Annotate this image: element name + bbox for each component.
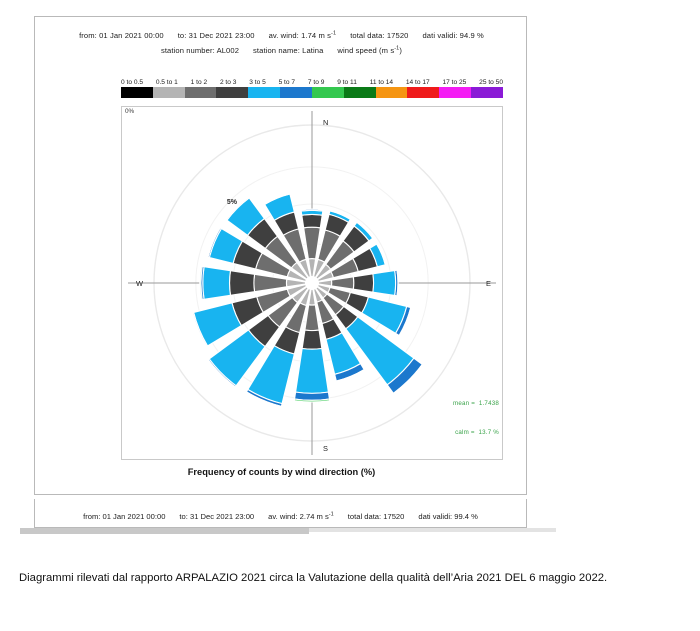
petal-segment (230, 271, 255, 296)
station-number-label: station number: AL002 (161, 46, 239, 55)
cardinal-label-e: E (486, 279, 491, 288)
wind-rose-petal-S (294, 283, 329, 402)
legend-swatch-8 (376, 87, 408, 98)
panel2-valid-data-label: dati validi: 99.4 % (418, 512, 478, 521)
petal-segment (295, 392, 330, 400)
stats-mean-label: mean = 1.7438 (453, 399, 499, 409)
legend-label-1: 0.5 to 1 (156, 79, 178, 86)
wind-rose-chart: 5%NESW (122, 107, 502, 459)
petal-segment (301, 209, 323, 211)
period-to-label: to: 31 Dec 2021 23:00 (178, 31, 255, 40)
petal-segment (373, 271, 396, 296)
legend-label-8: 11 to 14 (370, 79, 393, 86)
period-from-label: from: 01 Jan 2021 00:00 (79, 31, 164, 40)
panel2-total-data-label: total data: 17520 (348, 512, 405, 521)
legend-swatch-4 (248, 87, 280, 98)
legend-label-2: 1 to 2 (191, 79, 208, 86)
wind-rose-plot-frame: 0% 5%NESW mean = 1.7438 calm = 13.7 % (121, 106, 503, 460)
legend-label-6: 7 to 9 (308, 79, 325, 86)
wind-rose-stats: mean = 1.7438 calm = 13.7 % (453, 380, 499, 457)
station-name-label: station name: Latina (253, 46, 323, 55)
legend-label-0: 0 to 0.5 (121, 79, 143, 86)
wind-rose-petals (192, 193, 423, 407)
legend-swatch-3 (216, 87, 248, 98)
rose-hub (305, 276, 319, 290)
legend-color-bar (121, 87, 503, 98)
legend-swatch-0 (121, 87, 153, 98)
average-wind-label: av. wind: 1.74 m s-1 (269, 31, 337, 40)
petal-segment (302, 330, 322, 349)
panel2-average-wind-exponent: -1 (329, 511, 334, 517)
petal-segment (305, 305, 319, 331)
cardinal-label-s: S (323, 444, 328, 453)
legend-swatch-2 (185, 87, 217, 98)
average-wind-text: av. wind: 1.74 m s (269, 31, 331, 40)
cardinal-label-n: N (323, 118, 328, 127)
panel-shadow-dark (20, 528, 309, 534)
second-figure-panel: from: 01 Jan 2021 00:00 to: 31 Dec 2021 … (34, 499, 527, 528)
legend-swatch-6 (312, 87, 344, 98)
petal-segment (203, 267, 231, 299)
figure-caption: Frequency of counts by wind direction (%… (35, 467, 528, 477)
panel2-average-wind-label: av. wind: 2.74 m s-1 (268, 512, 334, 521)
wind-speed-units-close: ) (399, 46, 402, 55)
panel2-period-from-label: from: 01 Jan 2021 00:00 (83, 512, 165, 521)
panel2-period-to-label: to: 31 Dec 2021 23:00 (179, 512, 254, 521)
legend-label-10: 17 to 25 (443, 79, 467, 86)
legend-labels: 0 to 0.50.5 to 11 to 22 to 33 to 55 to 7… (121, 79, 503, 86)
figure-header: from: 01 Jan 2021 00:00 to: 31 Dec 2021 … (35, 17, 528, 55)
petal-segment (302, 214, 322, 227)
wind-rose-figure-panel: from: 01 Jan 2021 00:00 to: 31 Dec 2021 … (34, 16, 527, 495)
petal-segment (296, 348, 329, 393)
total-data-label: total data: 17520 (350, 31, 408, 40)
legend-label-4: 3 to 5 (249, 79, 266, 86)
wind-speed-units-label: wind speed (m s-1) (337, 46, 402, 55)
petal-segment (353, 274, 373, 292)
legend-label-3: 2 to 3 (220, 79, 237, 86)
legend-label-11: 25 to 50 (479, 79, 503, 86)
legend-label-5: 5 to 7 (279, 79, 296, 86)
petal-segment (304, 227, 321, 259)
legend-swatch-1 (153, 87, 185, 98)
panel-shadow-light (309, 528, 556, 532)
legend-swatch-7 (344, 87, 376, 98)
petal-segment (254, 274, 287, 291)
stats-calm-label: calm = 13.7 % (453, 428, 499, 438)
legend-label-9: 14 to 17 (406, 79, 430, 86)
cardinal-label-w: W (136, 279, 143, 288)
petal-segment (194, 303, 242, 346)
valid-data-label: dati validi: 94.9 % (422, 31, 483, 40)
legend-swatch-11 (471, 87, 503, 98)
petal-segment (332, 277, 354, 289)
wind-speed-units-text: wind speed (m s (337, 46, 394, 55)
legend-swatch-9 (407, 87, 439, 98)
second-figure-header: from: 01 Jan 2021 00:00 to: 31 Dec 2021 … (35, 499, 526, 521)
document-page: from: 01 Jan 2021 00:00 to: 31 Dec 2021 … (0, 0, 700, 631)
wind-speed-legend: 0 to 0.50.5 to 11 to 22 to 33 to 55 to 7… (121, 79, 503, 98)
radial-axis-ring-label: 5% (227, 199, 238, 206)
document-caption: Diagrammi rilevati dal rapporto ARPALAZI… (19, 572, 681, 584)
figure-header-line-1: from: 01 Jan 2021 00:00 to: 31 Dec 2021 … (35, 17, 528, 40)
wind-rose-petal-W (200, 266, 312, 299)
legend-label-7: 9 to 11 (337, 79, 357, 86)
panel2-average-wind-text: av. wind: 2.74 m s (268, 512, 329, 521)
legend-swatch-10 (439, 87, 471, 98)
average-wind-exponent: -1 (331, 30, 336, 36)
legend-swatch-5 (280, 87, 312, 98)
figure-header-line-2: station number: AL002 station name: Lati… (35, 40, 528, 55)
